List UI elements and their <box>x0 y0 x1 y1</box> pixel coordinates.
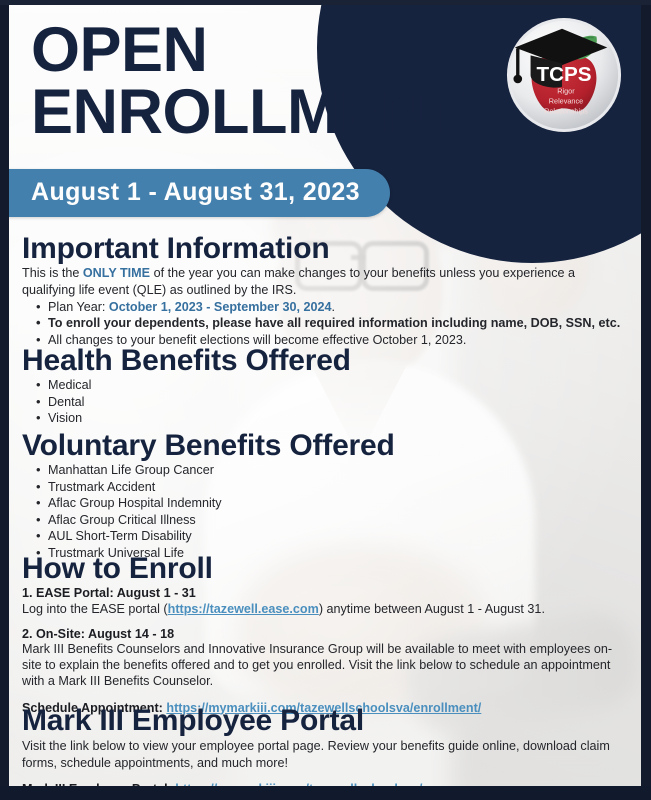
enroll-step1-title: 1. EASE Portal: August 1 - 31 <box>22 586 629 600</box>
date-range-banner: August 1 - August 31, 2023 <box>9 169 390 217</box>
section-voluntary-benefits: Voluntary Benefits Offered Manhattan Lif… <box>22 430 629 561</box>
benefit-label: Dental <box>48 395 84 409</box>
benefit-label: AUL Short-Term Disability <box>48 529 192 543</box>
frame-left-edge <box>0 0 9 800</box>
enroll-step2-title: 2. On-Site: August 14 - 18 <box>22 627 629 641</box>
only-time-highlight: ONLY TIME <box>83 266 150 280</box>
flyer-page: TCPS Rigor Relevance Relationships OPEN … <box>9 5 641 786</box>
plan-year-dates: October 1, 2023 - September 30, 2024 <box>109 300 332 314</box>
step1-after-text: ) anytime between August 1 - August 31. <box>319 602 545 616</box>
list-item: Plan Year: October 1, 2023 - September 3… <box>48 299 629 316</box>
important-information-bullets: Plan Year: October 1, 2023 - September 3… <box>22 299 629 349</box>
enroll-step2-body: Mark III Benefits Counselors and Innovat… <box>22 642 629 690</box>
benefit-label: Trustmark Accident <box>48 480 155 494</box>
voluntary-benefits-heading: Voluntary Benefits Offered <box>22 430 629 461</box>
ease-portal-link[interactable]: https://tazewell.ease.com <box>168 602 319 616</box>
employee-portal-heading: Mark III Employee Portal <box>22 705 629 736</box>
title-line-2: ENROLLMENT <box>31 81 463 143</box>
list-item: Trustmark Accident <box>48 479 629 496</box>
list-item: Medical <box>48 377 629 394</box>
important-information-heading: Important Information <box>22 233 629 264</box>
list-item: AUL Short-Term Disability <box>48 528 629 545</box>
section-employee-portal: Mark III Employee Portal Visit the link … <box>22 705 629 786</box>
health-benefits-list: Medical Dental Vision <box>22 377 629 427</box>
list-item: To enroll your dependents, please have a… <box>48 315 629 332</box>
benefit-label: Manhattan Life Group Cancer <box>48 463 214 477</box>
section-important-information: Important Information This is the ONLY T… <box>22 233 629 349</box>
benefit-label: Aflac Group Hospital Indemnity <box>48 496 222 510</box>
frame-top-edge <box>0 0 651 5</box>
list-item: Aflac Group Hospital Indemnity <box>48 495 629 512</box>
list-item: Dental <box>48 394 629 411</box>
title-line-1: OPEN <box>31 15 208 85</box>
flyer-title: OPEN ENROLLMENT <box>31 19 463 144</box>
list-item: Manhattan Life Group Cancer <box>48 462 629 479</box>
list-item: Aflac Group Critical Illness <box>48 512 629 529</box>
bullet-prefix: Plan Year: <box>48 300 109 314</box>
step1-before-text: Log into the EASE portal ( <box>22 602 168 616</box>
section-how-to-enroll: How to Enroll 1. EASE Portal: August 1 -… <box>22 553 629 716</box>
health-benefits-heading: Health Benefits Offered <box>22 345 629 376</box>
enroll-step1-body: Log into the EASE portal (https://tazewe… <box>22 601 629 617</box>
benefit-label: Vision <box>48 411 82 425</box>
frame-right-edge <box>641 0 651 800</box>
voluntary-benefits-list: Manhattan Life Group Cancer Trustmark Ac… <box>22 462 629 561</box>
how-to-enroll-heading: How to Enroll <box>22 553 629 584</box>
bullet-suffix: . <box>332 300 336 314</box>
open-enrollment-flyer: TCPS Rigor Relevance Relationships OPEN … <box>0 0 651 800</box>
benefit-label: Medical <box>48 378 91 392</box>
bullet-text: To enroll your dependents, please have a… <box>48 316 620 330</box>
benefit-label: Aflac Group Critical Illness <box>48 513 196 527</box>
list-item: Vision <box>48 410 629 427</box>
employee-portal-body: Visit the link below to view your employ… <box>22 738 629 771</box>
section-health-benefits: Health Benefits Offered Medical Dental V… <box>22 345 629 427</box>
frame-bottom-edge <box>0 786 651 800</box>
important-information-intro: This is the ONLY TIME of the year you ca… <box>22 265 629 298</box>
intro-before: This is the <box>22 266 83 280</box>
